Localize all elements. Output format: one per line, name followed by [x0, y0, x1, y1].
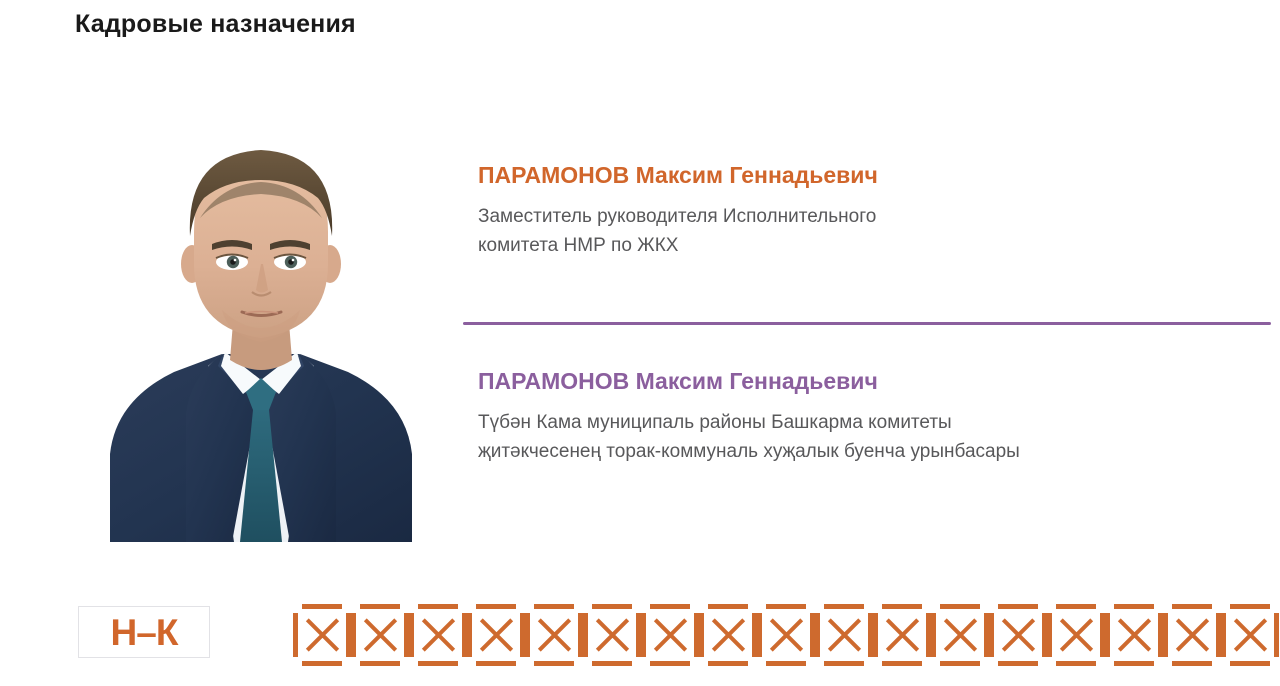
ornament-strip — [293, 598, 1280, 672]
ornament-cell — [1047, 602, 1105, 668]
ornament-cell — [1221, 602, 1279, 668]
ornament-bar-left — [1221, 613, 1226, 657]
ornament-cell — [351, 602, 409, 668]
person-position-ru-line1: Заместитель руководителя Исполнительного — [478, 202, 1278, 231]
person-position-tt-line1: Түбән Кама муниципаль районы Башкарма ко… — [478, 408, 1278, 437]
ornament-bar-right — [1274, 613, 1279, 657]
ornament-cell — [989, 602, 1047, 668]
portrait-illustration — [82, 114, 440, 542]
ornament-bar-left — [815, 613, 820, 657]
slide-canvas: Кадровые назначения — [0, 0, 1280, 686]
ornament-x-icon — [362, 617, 398, 653]
info-column: ПАРАМОНОВ Максим Геннадьевич Заместитель… — [478, 160, 1278, 466]
section-divider — [463, 322, 1271, 325]
ornament-cell — [467, 602, 525, 668]
ornament-x-icon — [942, 617, 978, 653]
portrait-photo — [82, 114, 440, 542]
ornament-bar-left — [525, 613, 530, 657]
ornament-bar-left — [873, 613, 878, 657]
ornament-x-icon — [884, 617, 920, 653]
page-title: Кадровые назначения — [75, 10, 356, 39]
ornament-cell — [873, 602, 931, 668]
ornament-bar-left — [351, 613, 356, 657]
ornament-bar-left — [1047, 613, 1052, 657]
ornament-cell — [1163, 602, 1221, 668]
ornament-bar-left — [583, 613, 588, 657]
ornament-bar-left — [409, 613, 414, 657]
ornament-x-icon — [1000, 617, 1036, 653]
ornament-cell — [525, 602, 583, 668]
ornament-cell — [409, 602, 467, 668]
footer-bar: Н–К — [0, 586, 1280, 686]
ornament-bar-left — [989, 613, 994, 657]
ornament-x-icon — [594, 617, 630, 653]
person-position-ru: Заместитель руководителя Исполнительного… — [478, 202, 1278, 260]
ornament-x-icon — [652, 617, 688, 653]
entry-russian: ПАРАМОНОВ Максим Геннадьевич Заместитель… — [478, 160, 1278, 260]
ornament-cell — [293, 602, 351, 668]
ornament-bar-left — [1105, 613, 1110, 657]
ornament-x-icon — [768, 617, 804, 653]
ornament-x-icon — [710, 617, 746, 653]
ornament-cell — [757, 602, 815, 668]
person-name-ru: ПАРАМОНОВ Максим Геннадьевич — [478, 160, 1278, 190]
ornament-x-icon — [304, 617, 340, 653]
ornament-x-icon — [1116, 617, 1152, 653]
ornament-bar-left — [293, 613, 298, 657]
ornament-cell — [641, 602, 699, 668]
ornament-cell — [699, 602, 757, 668]
ornament-x-icon — [1058, 617, 1094, 653]
ornament-x-icon — [826, 617, 862, 653]
entry-tatar: ПАРАМОНОВ Максим Геннадьевич Түбән Кама … — [478, 366, 1278, 466]
ornament-bar-left — [467, 613, 472, 657]
ornament-cell — [815, 602, 873, 668]
ornament-bar-left — [699, 613, 704, 657]
ornament-x-icon — [536, 617, 572, 653]
ornament-x-icon — [1174, 617, 1210, 653]
ornament-bar-left — [757, 613, 762, 657]
ornament-x-icon — [420, 617, 456, 653]
channel-logo: Н–К — [78, 606, 210, 658]
ornament-cell — [583, 602, 641, 668]
ornament-cell — [931, 602, 989, 668]
person-position-ru-line2: комитета НМР по ЖКХ — [478, 231, 1278, 260]
ornament-x-icon — [478, 617, 514, 653]
ornament-bar-left — [641, 613, 646, 657]
ornament-x-icon — [1232, 617, 1268, 653]
ornament-bar-left — [1163, 613, 1168, 657]
person-name-tt: ПАРАМОНОВ Максим Геннадьевич — [478, 366, 1278, 396]
ornament-cell — [1105, 602, 1163, 668]
person-position-tt-line2: җитәкчесенең торак-коммуналь хуҗалык буе… — [478, 437, 1278, 466]
person-position-tt: Түбән Кама муниципаль районы Башкарма ко… — [478, 408, 1278, 466]
ornament-bar-left — [931, 613, 936, 657]
channel-logo-text: Н–К — [111, 614, 178, 651]
